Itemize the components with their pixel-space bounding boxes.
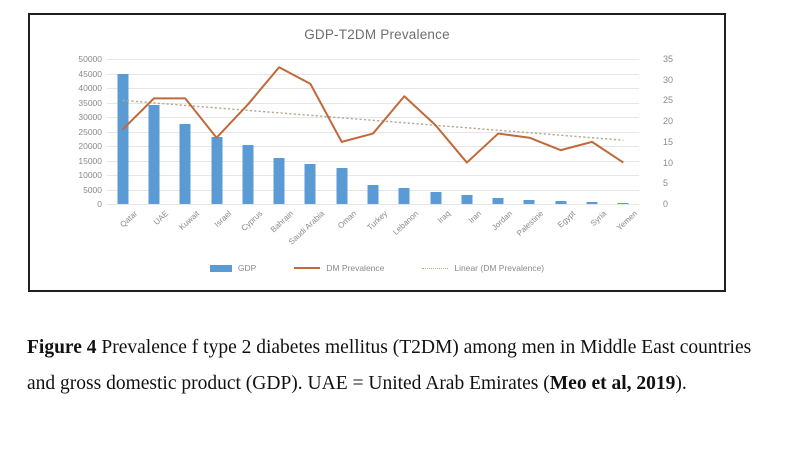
- x-axis-tick-label: Israel: [212, 209, 232, 229]
- x-axis-tick-label: Lebanon: [391, 209, 420, 237]
- legend-label-linear-dm-prevalence: Linear (DM Prevalence): [454, 263, 544, 273]
- y-axis-right-tick-label: 5: [663, 178, 668, 188]
- x-axis-tick-label: Iraq: [435, 209, 451, 225]
- legend-label-gdp: GDP: [238, 263, 256, 273]
- plot-area: 0500010000150002000025000300003500040000…: [107, 59, 639, 204]
- chart-legend: GDP DM Prevalence Linear (DM Prevalence): [30, 263, 724, 273]
- line-dm-prevalence: [123, 67, 624, 162]
- legend-label-dm-prevalence: DM Prevalence: [326, 263, 384, 273]
- legend-bar-swatch-icon: [210, 265, 232, 272]
- figure-caption-citation: Meo et al, 2019: [550, 373, 676, 394]
- legend-dotted-line-swatch-icon: [422, 268, 448, 269]
- legend-item-dm-prevalence[interactable]: DM Prevalence: [294, 263, 384, 273]
- figure-caption-label: Figure 4: [27, 337, 97, 358]
- x-axis-tick-label: UAE: [152, 209, 170, 227]
- y-axis-left-tick-label: 35000: [78, 98, 102, 108]
- y-axis-right-tick-label: 15: [663, 137, 673, 147]
- x-axis-tick-label: Qatar: [118, 209, 139, 229]
- x-axis-tick-label: Syria: [589, 209, 608, 228]
- y-axis-left-tick-label: 10000: [78, 170, 102, 180]
- line-series-overlay: [107, 59, 639, 204]
- y-axis-left-tick-label: 5000: [83, 185, 102, 195]
- x-axis-tick-label: Iran: [467, 209, 483, 225]
- gridline: [107, 204, 639, 205]
- figure-caption: Figure 4 Prevalence f type 2 diabetes me…: [27, 330, 777, 402]
- y-axis-right-tick-label: 30: [663, 75, 673, 85]
- x-axis-tick-label: Egypt: [556, 209, 577, 230]
- x-axis-tick-label: Bahrain: [269, 209, 295, 234]
- y-axis-left-tick-label: 30000: [78, 112, 102, 122]
- y-axis-right-tick-label: 35: [663, 54, 673, 64]
- figure-frame: GDP-T2DM Prevalence 05000100001500020000…: [28, 13, 726, 292]
- y-axis-left-tick-label: 50000: [78, 54, 102, 64]
- y-axis-right-tick-label: 0: [663, 199, 668, 209]
- y-axis-right-tick-label: 10: [663, 158, 673, 168]
- y-axis-right-tick-label: 20: [663, 116, 673, 126]
- legend-item-linear-dm-prevalence[interactable]: Linear (DM Prevalence): [422, 263, 544, 273]
- y-axis-left-tick-label: 0: [97, 199, 102, 209]
- x-axis-tick-label: Kuwait: [178, 209, 202, 232]
- y-axis-left-tick-label: 20000: [78, 141, 102, 151]
- x-axis-tick-label: Jordan: [490, 209, 514, 232]
- figure-caption-tail: ).: [675, 373, 686, 394]
- y-axis-left-tick-label: 25000: [78, 127, 102, 137]
- legend-item-gdp[interactable]: GDP: [210, 263, 256, 273]
- x-axis-labels: QatarUAEKuwaitIsraelCyprusBahrainSaudi A…: [107, 207, 639, 259]
- y-axis-left-tick-label: 40000: [78, 83, 102, 93]
- y-axis-left-tick-label: 45000: [78, 69, 102, 79]
- chart-canvas: GDP-T2DM Prevalence 05000100001500020000…: [30, 15, 724, 290]
- y-axis-left-tick-label: 15000: [78, 156, 102, 166]
- x-axis-tick-label: Turkey: [365, 209, 389, 232]
- legend-line-swatch-icon: [294, 267, 320, 269]
- chart-title: GDP-T2DM Prevalence: [30, 27, 724, 42]
- x-axis-tick-label: Oman: [336, 209, 358, 230]
- y-axis-right-tick-label: 25: [663, 95, 673, 105]
- x-axis-tick-label: Yemen: [615, 209, 639, 232]
- x-axis-tick-label: Cyprus: [239, 209, 264, 233]
- x-axis-tick-label: Palestine: [515, 209, 545, 238]
